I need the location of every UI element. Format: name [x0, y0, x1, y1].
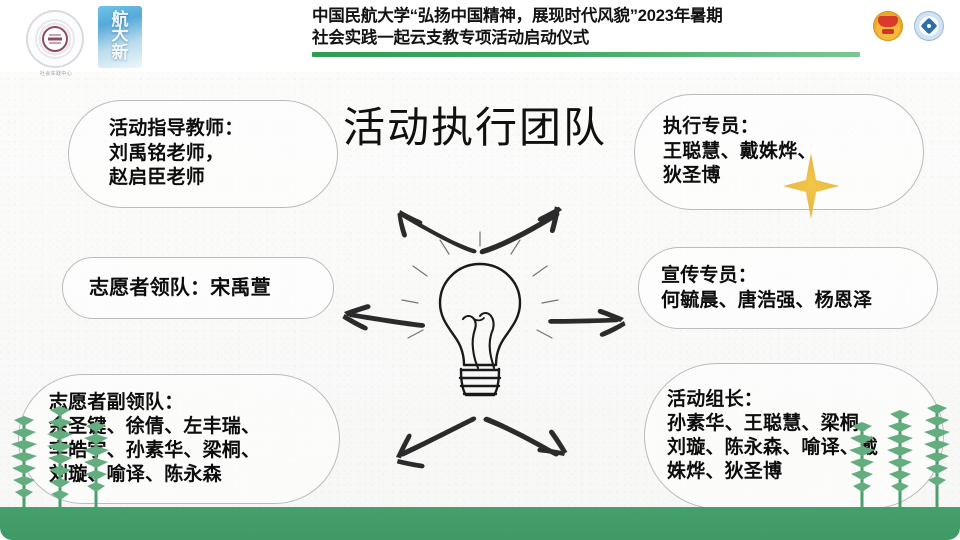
box-advisor-line-3: 赵启臣老师: [109, 166, 337, 191]
box-publicity-line-1: 宣传专员：: [661, 263, 937, 288]
logo-block: 社会实践中心 航 大 新: [14, 4, 164, 76]
green-ground-strip: [0, 507, 960, 540]
box-advisor-line-1: 活动指导教师：: [109, 117, 337, 142]
lightbulb-icon: [440, 264, 520, 395]
calligraphy-logo-icon: 航 大 新: [98, 6, 142, 68]
slide-header: 社会实践中心 航 大 新 中国民航大学“弘扬中国精神，展现时代风貌”2023年暑…: [0, 0, 960, 72]
page-title: 活动执行团队: [320, 94, 630, 155]
arrow-middle-left: [342, 304, 425, 330]
arrow-lower-left: [396, 416, 476, 468]
wheat-stalks-left-icon: [2, 386, 118, 514]
box-executor-line-1: 执行专员：: [663, 115, 923, 140]
association-badge-icon: [914, 11, 944, 41]
university-emblem-icon: [26, 10, 84, 68]
box-volunteer-leader-line-1: 志愿者领队：宋禹萱: [89, 276, 333, 301]
box-volunteer-leader[interactable]: 志愿者领队：宋禹萱: [62, 257, 334, 319]
calligraphy-char-3: 新: [98, 44, 142, 61]
wheat-stalks-right-icon: [838, 386, 958, 514]
box-executor-line-2: 王聪慧、戴姝烨、: [663, 140, 923, 165]
box-advisor[interactable]: 活动指导教师： 刘禹铭老师， 赵启臣老师: [68, 100, 338, 208]
slide-canvas: 社会实践中心 航 大 新 中国民航大学“弘扬中国精神，展现时代风貌”2023年暑…: [0, 0, 960, 540]
calligraphy-char-2: 大: [98, 26, 142, 43]
header-title-line-2: 社会实践一起云支教专项活动启动仪式: [312, 28, 872, 50]
box-advisor-line-2: 刘禹铭老师，: [109, 142, 337, 167]
header-title-line-1: 中国民航大学“弘扬中国精神，展现时代风貌”2023年暑期: [312, 6, 872, 28]
arrow-lower-right: [483, 417, 567, 457]
box-publicity-line-2: 何毓晨、唐浩强、杨恩泽: [661, 288, 937, 313]
arrow-group: [342, 206, 625, 468]
arrow-upper-right: [480, 206, 562, 254]
wheat-stalk-3: [924, 404, 950, 486]
box-executor-line-3: 狄圣博: [663, 164, 923, 189]
box-executor[interactable]: 执行专员： 王聪慧、戴姝烨、 狄圣博: [634, 94, 924, 210]
header-green-rule: [312, 52, 860, 57]
center-diagram: [330, 188, 630, 470]
wheat-stalk-1: [11, 416, 37, 498]
arrow-middle-right: [548, 309, 625, 337]
arrow-upper-left: [397, 210, 476, 253]
header-title: 中国民航大学“弘扬中国精神，展现时代风貌”2023年暑期 社会实践一起云支教专项…: [312, 6, 872, 50]
emblem-caption: 社会实践中心: [20, 70, 92, 77]
communist-youth-league-badge-icon: [873, 11, 903, 41]
lightbulb-glow-rays: [402, 232, 558, 338]
wheat-stalk-2: [887, 410, 913, 492]
box-publicity[interactable]: 宣传专员： 何毓晨、唐浩强、杨恩泽: [638, 247, 938, 329]
